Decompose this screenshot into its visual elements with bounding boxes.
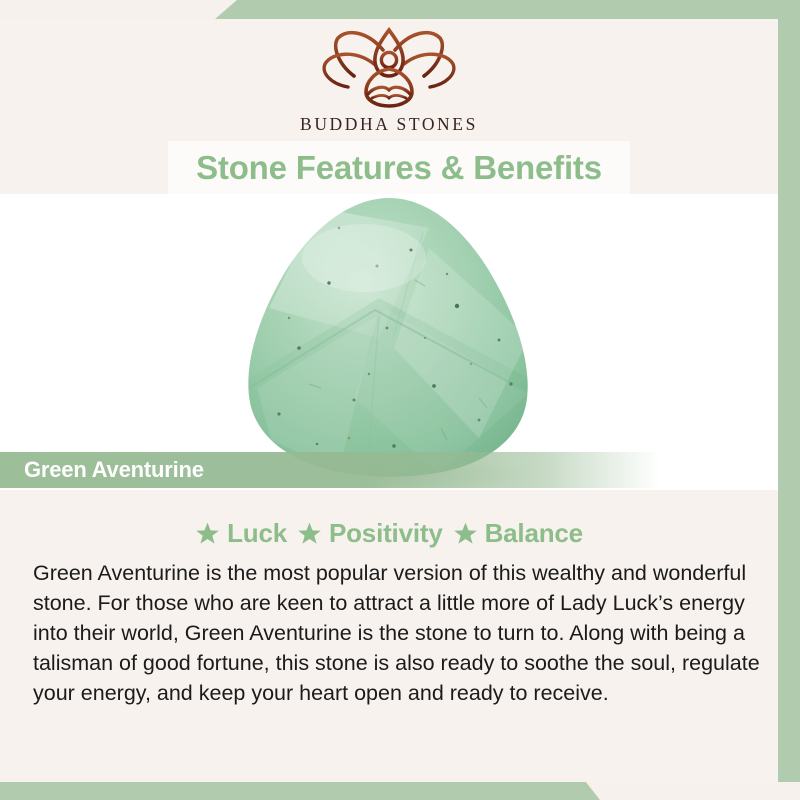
star-icon — [297, 521, 322, 546]
product-image — [179, 194, 599, 488]
product-label: Green Aventurine — [24, 457, 204, 483]
benefit-item: Balance — [453, 518, 583, 549]
benefit-item: Luck — [195, 518, 287, 549]
page-title: Stone Features & Benefits — [196, 149, 602, 187]
benefit-label: Positivity — [329, 518, 443, 549]
product-image-stage — [0, 194, 778, 490]
description-text: Green Aventurine is the most popular ver… — [33, 558, 775, 708]
benefit-label: Balance — [485, 518, 583, 549]
benefits-list: Luck Positivity Balance — [0, 518, 778, 549]
star-icon — [453, 521, 478, 546]
benefit-label: Luck — [227, 518, 287, 549]
lotus-meditation-figure-icon — [304, 24, 474, 110]
product-label-bar: Green Aventurine — [0, 452, 660, 488]
star-icon — [195, 521, 220, 546]
frame-band-right — [778, 0, 800, 782]
brand-wordmark: BUDDHA STONES — [300, 114, 478, 135]
frame-band-top — [215, 0, 800, 19]
brand-logo: BUDDHA STONES — [0, 24, 778, 135]
product-infographic: BUDDHA STONES Stone Features & Benefits — [0, 0, 800, 800]
benefit-item: Positivity — [297, 518, 443, 549]
green-aventurine-stone-illustration — [179, 194, 599, 488]
title-banner: Stone Features & Benefits — [168, 141, 630, 194]
